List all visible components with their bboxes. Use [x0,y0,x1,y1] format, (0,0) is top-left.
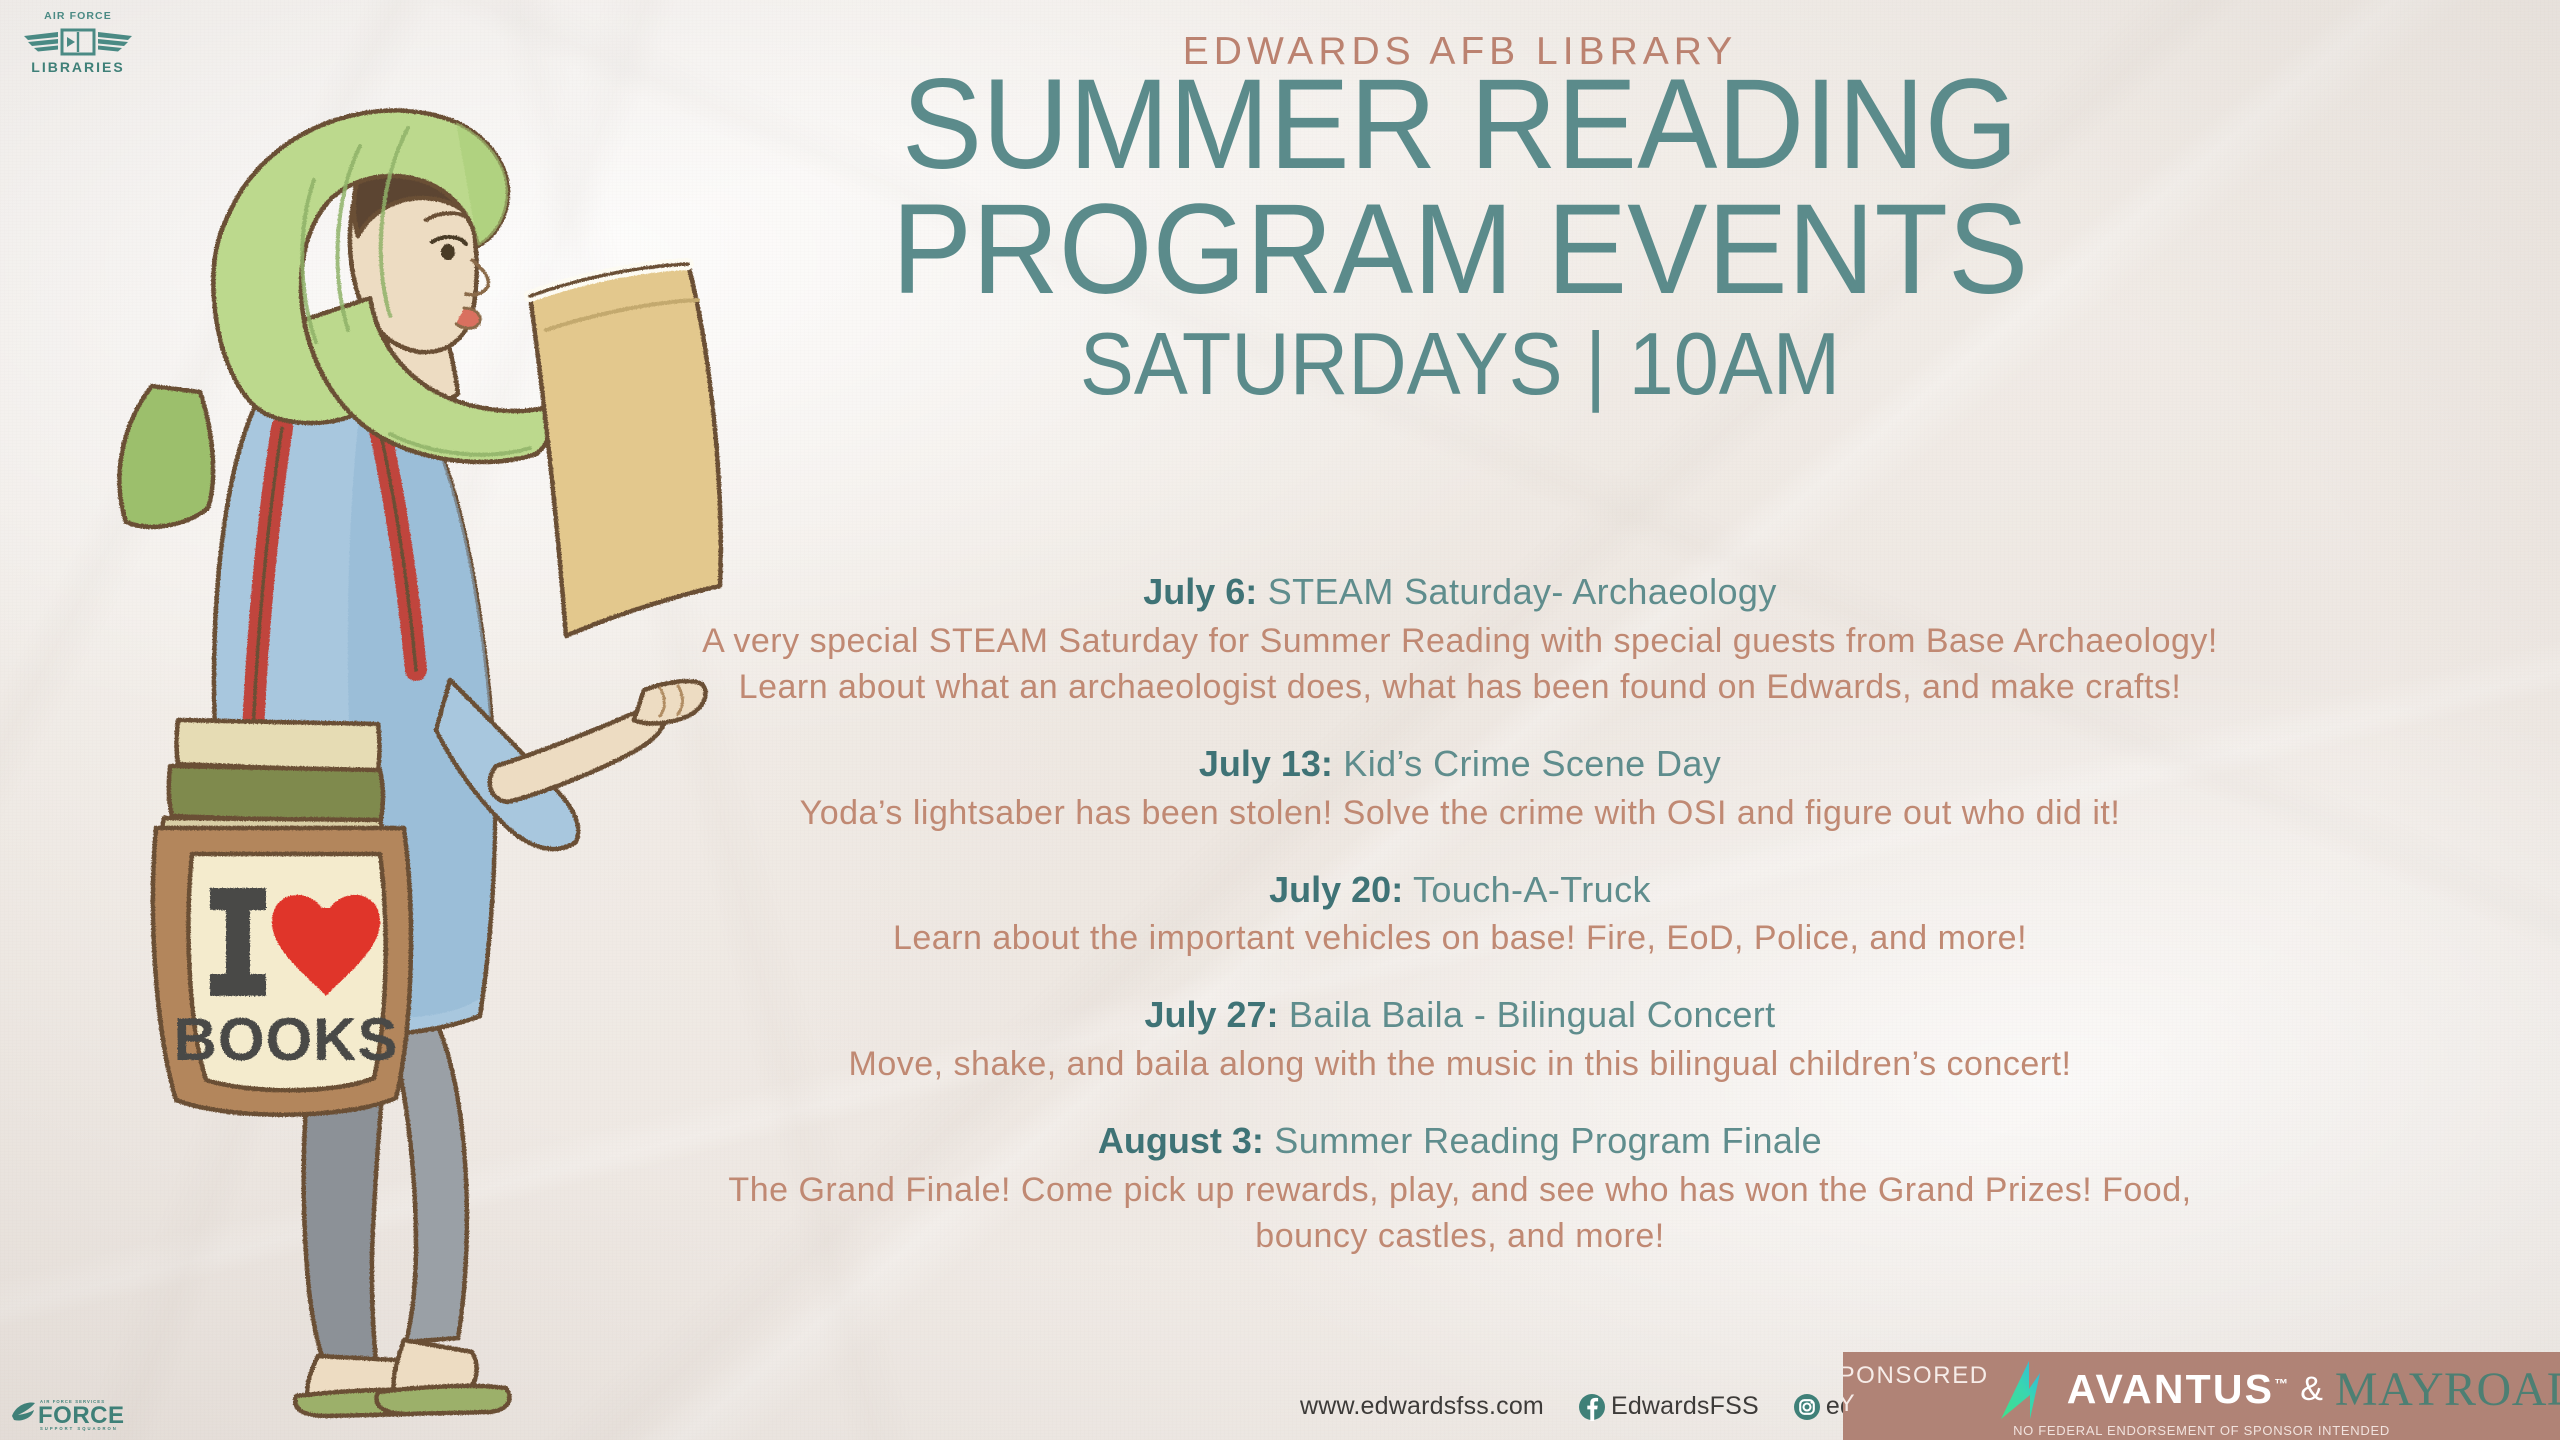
sponsor-bar: SPONSORED BY AVANTUS™ [1843,1352,2560,1440]
event-heading: August 3: Summer Reading Program Finale [700,1117,2220,1165]
page-title: SUMMER READING PROGRAM EVENTS SATURDAYS … [700,62,2220,407]
avantus-trademark: ™ [2274,1375,2288,1391]
girl-reading-illustration: BOOKS [60,30,790,1420]
event-date: July 13: [1199,743,1333,784]
event-title: STEAM Saturday- Archaeology [1268,571,1777,612]
sponsor-row: SPONSORED BY AVANTUS™ [1843,1359,2560,1421]
avantus-text: AVANTUS [2067,1366,2275,1412]
website-label: www.edwardsfss.com [1300,1392,1544,1421]
poster-content: EDWARDS AFB LIBRARY SUMMER READING PROGR… [700,0,2510,1440]
af-libraries-top-text: AIR FORCE [44,10,112,22]
event-date: July 27: [1144,994,1278,1035]
facebook-icon [1578,1393,1606,1421]
instagram-icon [1793,1393,1821,1421]
sponsor-conjunction: & [2298,1370,2325,1409]
event-description: Yoda’s lightsaber has been stolen! Solve… [700,790,2220,836]
avantus-wordmark: AVANTUS™ [2067,1366,2289,1413]
poster-canvas: AIR FORCE LIBRARIES AIR FORCE SERV [0,0,2560,1440]
event-heading: July 20: Touch-A-Truck [700,866,2220,914]
event-date: July 6: [1143,571,1257,612]
event-item: July 27: Baila Baila - Bilingual Concert… [700,991,2220,1087]
facebook-link[interactable]: EdwardsFSS [1578,1392,1759,1421]
event-item: July 20: Touch-A-Truck Learn about the i… [700,866,2220,962]
title-subtitle: SATURDAYS | 10AM [761,321,2159,407]
svg-text:BOOKS: BOOKS [173,1006,398,1073]
event-description: A very special STEAM Saturday for Summer… [700,618,2220,710]
event-item: August 3: Summer Reading Program Finale … [700,1117,2220,1259]
fss-bottom-text: SUPPORT SQUADRON [40,1426,118,1431]
event-item: July 6: STEAM Saturday- Archaeology A ve… [700,568,2220,710]
event-heading: July 13: Kid’s Crime Scene Day [700,740,2220,788]
event-title: Baila Baila - Bilingual Concert [1289,994,1776,1035]
mayroad-wordmark: MAYROAD [2335,1366,2560,1414]
sponsored-by-label: SPONSORED BY [1843,1362,1989,1418]
force-support-leaf-icon [12,1403,35,1421]
event-item: July 13: Kid’s Crime Scene Day Yoda’s li… [700,740,2220,836]
event-date: July 20: [1269,869,1403,910]
facebook-handle: EdwardsFSS [1611,1392,1759,1421]
events-list: July 6: STEAM Saturday- Archaeology A ve… [700,568,2220,1259]
event-heading: July 6: STEAM Saturday- Archaeology [700,568,2220,616]
website-link[interactable]: www.edwardsfss.com [1300,1392,1544,1421]
event-title: Touch-A-Truck [1413,869,1651,910]
avantus-bolt-icon [1999,1359,2057,1421]
sponsor-disclaimer: NO FEDERAL ENDORSEMENT OF SPONSOR INTEND… [2013,1423,2390,1438]
event-title: Summer Reading Program Finale [1274,1120,1822,1161]
event-title: Kid’s Crime Scene Day [1343,743,1721,784]
event-heading: July 27: Baila Baila - Bilingual Concert [700,991,2220,1039]
event-description: Learn about the important vehicles on ba… [700,915,2220,961]
title-line-2: PROGRAM EVENTS [746,187,2175,312]
title-line-1: SUMMER READING [746,62,2175,187]
event-date: August 3: [1098,1120,1264,1161]
event-description: The Grand Finale! Come pick up rewards, … [700,1167,2220,1259]
event-description: Move, shake, and baila along with the mu… [700,1041,2220,1087]
